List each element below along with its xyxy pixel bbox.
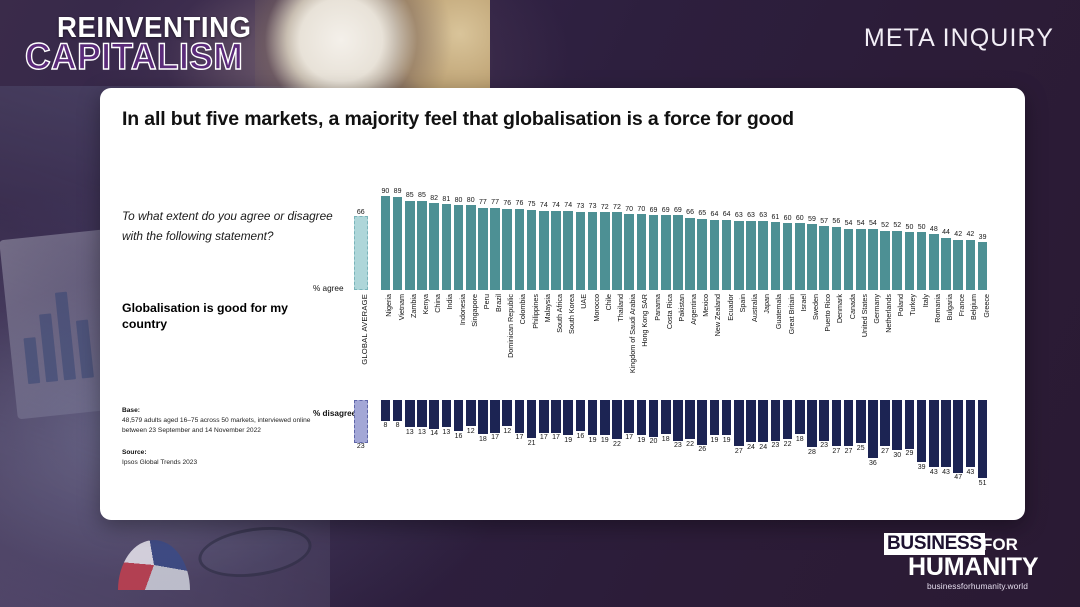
bar [771,400,781,441]
bar-value-label: 36 [869,460,877,467]
bar-value-label: 82 [430,195,438,202]
bar [941,238,951,290]
bar-value-label: 28 [808,449,816,456]
bar-value-label: 19 [589,437,597,444]
agree-bar-france: 42 [953,174,963,290]
bar-value-label: 64 [711,211,719,218]
bar [429,203,439,290]
disagree-bar-indonesia: 16 [454,400,464,496]
label-text: GLOBAL AVERAGE [361,294,368,365]
agree-bar-malaysia: 74 [539,174,549,290]
agree-bar-philippines: 75 [527,174,537,290]
bar-value-label: 8 [383,422,387,429]
label-text: Argentina [690,294,697,325]
disagree-bar-nigeria: 8 [381,400,391,496]
disagree-bar-morocco: 19 [588,400,598,496]
agree-bars-panel: 6690898585828180807777767675747474737372… [355,174,1025,290]
bar-value-label: 47 [954,474,962,481]
spacer [367,174,381,290]
bar [576,212,586,291]
agree-bar-japan: 63 [758,174,768,290]
bar [600,400,610,435]
bar-value-label: 23 [820,442,828,449]
chart-plot-area: 6690898585828180807777767675747474737372… [355,88,1025,520]
bar [685,400,695,439]
disagree-bar-argentina: 22 [685,400,695,496]
agree-bar-bulgaria: 44 [941,174,951,290]
disagree-bar-canada: 27 [844,400,854,496]
global-average-agree-bar: 66 [355,174,367,290]
disagree-bar-costa-rica: 18 [661,400,671,496]
disagree-bar-poland: 30 [892,400,902,496]
agree-bar-row: 6690898585828180807777767675747474737372… [355,174,1025,290]
category-label: Morocco [588,292,598,398]
disagree-bar-vietnam: 8 [393,400,403,496]
bar [405,201,415,290]
label-text: Italy [922,294,929,307]
agree-bar-south-africa: 74 [551,174,561,290]
bar-value-label: 74 [540,202,548,209]
bar [490,208,500,290]
label-text: Turkey [909,294,916,316]
category-label: Hong Kong SAR [637,292,647,398]
bar-value-label: 73 [589,203,597,210]
bar-value-label: 74 [564,202,572,209]
bar [953,400,963,473]
bar [905,232,915,290]
category-label: Chile [600,292,610,398]
bar-value-label: 69 [674,207,682,214]
category-label: Spain [734,292,744,398]
bar-value-label: 74 [552,202,560,209]
bar [490,400,500,433]
bar [478,208,488,290]
disagree-bar-row: 2388131314131612181712172117171916191922… [355,400,1025,496]
category-label: India [442,292,452,398]
category-label: Sweden [807,292,817,398]
source-text: Ipsos Global Trends 2023 [122,458,334,468]
bar [661,400,671,434]
agree-bar-greece: 39 [978,174,988,290]
label-text: Spain [739,294,746,312]
agree-bar-brazil: 77 [490,174,500,290]
label-text: India [446,294,453,310]
bar-value-label: 51 [979,480,987,487]
bar [466,205,476,290]
agree-bar-south-korea: 74 [563,174,573,290]
bar-value-label: 48 [930,226,938,233]
agree-bar-singapore: 80 [466,174,476,290]
bar [454,400,464,431]
bar-value-label: 60 [784,215,792,222]
disagree-bar-panama: 20 [649,400,659,496]
label-text: Poland [897,294,904,316]
agree-bar-poland: 52 [892,174,902,290]
bar-value-label: 19 [711,437,719,444]
bar-value-label: 29 [906,450,914,457]
bar [783,223,793,290]
bar [892,400,902,450]
bar [354,400,368,443]
label-text: Romania [934,294,941,323]
label-text: Great Britain [788,294,795,334]
bar [381,196,391,290]
bar [417,400,427,427]
bar [856,229,866,290]
spacer [367,400,381,496]
disagree-bar-philippines: 21 [527,400,537,496]
disagree-bar-chile: 19 [600,400,610,496]
bar-value-label: 43 [930,469,938,476]
category-label: Puerto Rico [819,292,829,398]
category-label: Peru [478,292,488,398]
label-text: Belgium [970,294,977,320]
category-label: Denmark [832,292,842,398]
bar-value-label: 90 [381,188,389,195]
bar [527,210,537,290]
agree-bar-ecuador: 64 [722,174,732,290]
agree-bar-peru: 77 [478,174,488,290]
disagree-bar-brazil: 17 [490,400,500,496]
category-label: Poland [892,292,902,398]
label-text: Indonesia [459,294,466,325]
disagree-bar-united-states: 25 [856,400,866,496]
category-label: Singapore [466,292,476,398]
bar [844,229,854,290]
agree-bar-netherlands: 52 [880,174,890,290]
bar [807,400,817,447]
agree-bar-india: 81 [442,174,452,290]
category-label: France [953,292,963,398]
bar-value-label: 70 [625,206,633,213]
bar-value-label: 75 [528,201,536,208]
bar [381,400,391,421]
bar-value-label: 69 [650,207,658,214]
label-text: UAE [580,294,587,309]
logo-business-text: BUSINESS [884,533,985,555]
label-text: Costa Rica [666,294,673,329]
bar-value-label: 66 [357,209,365,216]
bar [354,216,368,290]
category-label: Canada [844,292,854,398]
label-text: South Africa [556,294,563,333]
disagree-bar-new-zealand: 19 [710,400,720,496]
bar-value-label: 50 [918,224,926,231]
bar [746,400,756,442]
bar-value-label: 54 [845,220,853,227]
bar [722,400,732,435]
label-text: Philippines [532,294,539,329]
bar-value-label: 18 [796,436,804,443]
bar-value-label: 44 [942,229,950,236]
disagree-bar-spain: 27 [734,400,744,496]
disagree-bar-hong-kong-sar: 19 [637,400,647,496]
bar-value-label: 54 [869,220,877,227]
bar [454,205,464,290]
bar-value-label: 63 [747,212,755,219]
category-label: Kenya [417,292,427,398]
bar [953,240,963,290]
disagree-bar-bulgaria: 43 [941,400,951,496]
bar [832,227,842,290]
label-text: Malaysia [544,294,551,322]
agree-bar-canada: 54 [844,174,854,290]
agree-bar-zambia: 85 [405,174,415,290]
disagree-bar-malaysia: 17 [539,400,549,496]
agree-bar-costa-rica: 69 [661,174,671,290]
bar [551,400,561,433]
label-text: Sweden [812,294,819,320]
logo-humanity-text: HUMANITY [908,553,1038,582]
disagree-bar-zambia: 13 [405,400,415,496]
decorative-bar [76,320,94,379]
disagree-bar-guatemala: 23 [771,400,781,496]
bar-value-label: 42 [954,231,962,238]
bar-value-label: 72 [613,204,621,211]
agree-bar-morocco: 73 [588,174,598,290]
bar-value-label: 22 [784,441,792,448]
base-note: Base: 48,579 adults aged 16–75 across 50… [122,406,334,435]
bar-value-label: 13 [406,429,414,436]
bar [917,400,927,462]
disagree-bar-thailand: 22 [612,400,622,496]
agree-bar-germany: 54 [868,174,878,290]
bar-value-label: 27 [832,448,840,455]
bar-value-label: 16 [455,433,463,440]
bar [722,220,732,290]
category-label: Panama [649,292,659,398]
bar [966,400,976,467]
disagree-bar-south-korea: 19 [563,400,573,496]
label-text: Bulgaria [946,294,953,320]
label-text: Puerto Rico [824,294,831,332]
category-label-row: GLOBAL AVERAGENigeriaVietnamZambiaKenyaC… [355,292,1025,398]
bar-value-label: 26 [698,446,706,453]
bar [502,400,512,426]
disagree-bar-pakistan: 23 [673,400,683,496]
disagree-bar-italy: 39 [917,400,927,496]
global-average-disagree-bar: 23 [355,400,367,496]
label-text: South Korea [568,294,575,334]
agree-bar-denmark: 56 [832,174,842,290]
decorative-bar [23,337,40,384]
category-label: Netherlands [880,292,890,398]
bar-value-label: 52 [881,222,889,229]
agree-bar-chile: 72 [600,174,610,290]
bar-value-label: 57 [820,218,828,225]
survey-statement: Globalisation is good for my country [122,300,322,332]
bar-value-label: 80 [467,197,475,204]
agree-bar-sweden: 59 [807,174,817,290]
bar-value-label: 17 [540,434,548,441]
label-text: Peru [483,294,490,309]
disagree-bar-greece: 51 [978,400,988,496]
category-label: Turkey [905,292,915,398]
bar-value-label: 42 [966,231,974,238]
bar [868,400,878,458]
bar [868,229,878,290]
bar [880,231,890,290]
category-label: Greece [978,292,988,398]
category-label: Ecuador [722,292,732,398]
bar [661,215,671,290]
agree-bar-romania: 48 [929,174,939,290]
disagree-bar-kenya: 13 [417,400,427,496]
agree-bar-dominican-republic: 76 [502,174,512,290]
category-label: Israel [795,292,805,398]
disagree-bar-germany: 36 [868,400,878,496]
agree-bar-argentina: 66 [685,174,695,290]
bar [527,400,537,438]
bar [844,400,854,446]
disagree-bar-turkey: 29 [905,400,915,496]
disagree-bar-singapore: 12 [466,400,476,496]
bar-value-label: 77 [491,199,499,206]
category-labels-panel: GLOBAL AVERAGENigeriaVietnamZambiaKenyaC… [355,292,1025,398]
bar-value-label: 39 [918,464,926,471]
label-text: Chile [605,294,612,310]
bar [393,197,403,290]
bar [624,214,634,290]
bar-value-label: 24 [759,444,767,451]
bar [417,201,427,290]
bar [685,218,695,290]
bar [819,400,829,441]
bar [795,223,805,290]
bar [515,209,525,290]
agree-bar-hong-kong-sar: 70 [637,174,647,290]
bar-value-label: 20 [650,438,658,445]
disagree-bar-australia: 24 [746,400,756,496]
bar [832,400,842,446]
agree-bar-panama: 69 [649,174,659,290]
bar-value-label: 19 [723,437,731,444]
category-label: UAE [576,292,586,398]
bar [807,224,817,290]
agree-bar-pakistan: 69 [673,174,683,290]
category-label: Italy [917,292,927,398]
bar-value-label: 65 [698,210,706,217]
category-label: South Africa [551,292,561,398]
label-text: Germany [873,294,880,324]
bar [673,215,683,290]
bar [502,209,512,290]
bar [649,215,659,290]
bar-value-label: 85 [406,192,414,199]
category-label: South Korea [563,292,573,398]
bar-value-label: 60 [796,215,804,222]
bar [697,219,707,290]
agree-bar-vietnam: 89 [393,174,403,290]
category-label: Thailand [612,292,622,398]
bar-value-label: 12 [467,428,475,435]
agree-bar-turkey: 50 [905,174,915,290]
bar-value-label: 13 [442,429,450,436]
bar-value-label: 22 [613,441,621,448]
bar-value-label: 52 [893,222,901,229]
agree-bar-uae: 73 [576,174,586,290]
label-text: Thailand [617,294,624,322]
agree-bar-italy: 50 [917,174,927,290]
category-label: Vietnam [393,292,403,398]
bar [393,400,403,421]
category-label: Kingdom of Saudi Arabia [624,292,634,398]
bar [941,400,951,467]
label-text: Pakistan [678,294,685,322]
bar [917,232,927,290]
disagree-bar-dominican-republic: 12 [502,400,512,496]
category-label: Brazil [490,292,500,398]
bar [429,400,439,429]
bar-value-label: 23 [674,442,682,449]
label-text: Singapore [471,294,478,327]
label-text: Netherlands [885,294,892,333]
category-label: Bulgaria [941,292,951,398]
bar [539,400,549,433]
global-average-label: GLOBAL AVERAGE [355,292,367,398]
bar [478,400,488,434]
bar-value-label: 23 [357,443,365,450]
bar-value-label: 27 [845,448,853,455]
bar-value-label: 17 [491,434,499,441]
category-label: Guatemala [771,292,781,398]
label-text: Nigeria [385,294,392,317]
label-text: Vietnam [398,294,405,320]
label-text: Ecuador [727,294,734,321]
bar-value-label: 39 [979,234,987,241]
label-text: Zambia [410,294,417,318]
label-text: Kingdom of Saudi Arabia [629,294,636,373]
bar-value-label: 14 [430,430,438,437]
label-text: Dominican Republic [507,294,514,358]
bar-value-label: 24 [747,444,755,451]
bar [405,400,415,427]
agree-bar-belgium: 42 [966,174,976,290]
coffee-cup-photo [255,0,490,95]
category-label: Philippines [527,292,537,398]
bar [624,400,634,433]
bar [563,211,573,290]
bar-value-label: 56 [832,218,840,225]
label-text: New Zealand [714,294,721,336]
bar-value-label: 27 [881,448,889,455]
label-text: Hong Kong SAR [641,294,648,347]
survey-question: To what extent do you agree or disagree … [122,206,337,246]
disagree-bar-great-britain: 22 [783,400,793,496]
label-text: Greece [983,294,990,318]
bar [673,400,683,441]
bar [637,400,647,435]
agree-bar-puerto-rico: 57 [819,174,829,290]
agree-bar-nigeria: 90 [381,174,391,290]
bar [588,400,598,435]
category-label: Costa Rica [661,292,671,398]
agree-bar-great-britain: 60 [783,174,793,290]
category-label: Indonesia [454,292,464,398]
bar [576,400,586,431]
bar-value-label: 8 [396,422,400,429]
disagree-bar-denmark: 27 [832,400,842,496]
label-text: Japan [763,294,770,314]
bar-value-label: 59 [808,216,816,223]
bar [978,400,988,478]
disagree-bar-india: 13 [442,400,452,496]
decorative-bar [39,313,58,382]
label-text: Australia [751,294,758,322]
bar-value-label: 50 [906,224,914,231]
bar [880,400,890,446]
bar [819,226,829,290]
